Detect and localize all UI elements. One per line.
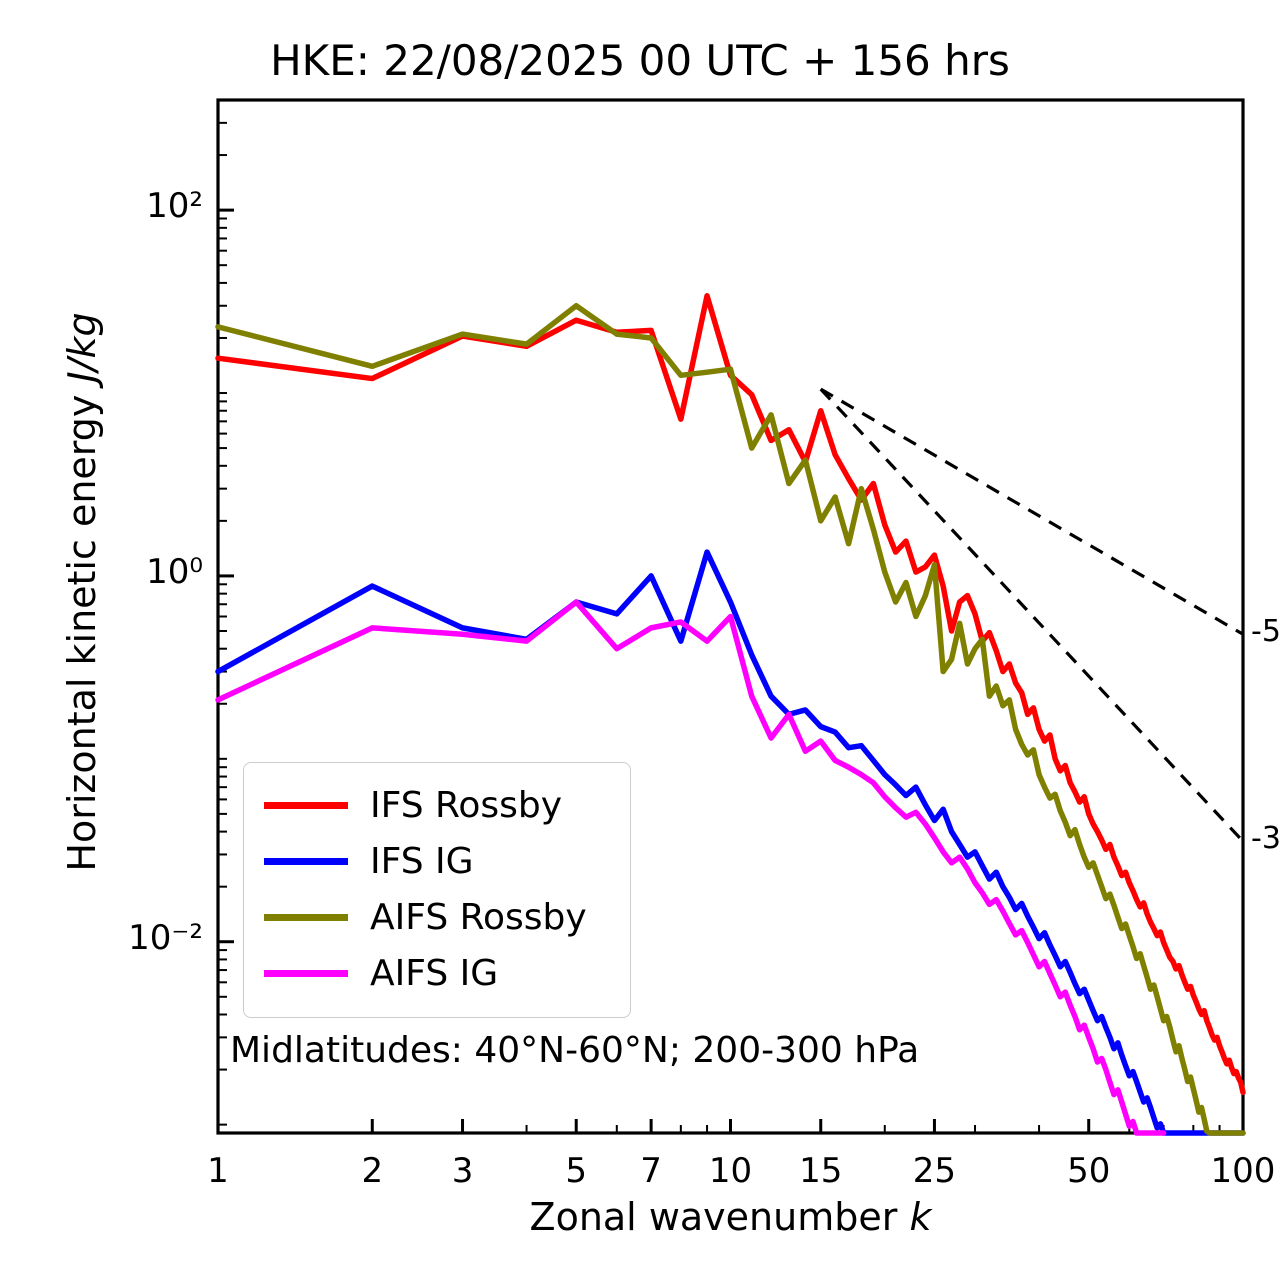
- slope-label-five-thirds: -5/3: [1251, 614, 1280, 649]
- y-tick-label: 10²: [18, 186, 203, 226]
- legend-swatch-aifs-ig: [264, 970, 348, 977]
- legend[interactable]: IFS Rossby IFS IG AIFS Rossby AIFS IG: [243, 762, 631, 1018]
- y-tick-label: 10⁻²: [18, 918, 203, 958]
- x-tick-label: 15: [761, 1151, 881, 1191]
- y-tick-label: 10⁰: [18, 552, 203, 592]
- legend-swatch-ifs-ig: [264, 858, 348, 865]
- slope-label-minus-three: -3: [1251, 821, 1280, 856]
- legend-label: IFS Rossby: [370, 785, 562, 826]
- legend-label: IFS IG: [370, 841, 474, 882]
- legend-label: AIFS IG: [370, 953, 498, 994]
- region-annotation: Midlatitudes: 40°N-60°N; 200-300 hPa: [230, 1030, 919, 1071]
- x-axis-label: Zonal wavenumber k: [218, 1195, 1243, 1239]
- legend-item[interactable]: AIFS IG: [260, 945, 614, 1001]
- x-tick-label: 50: [1029, 1151, 1149, 1191]
- x-tick-label: 1: [158, 1151, 278, 1191]
- legend-swatch-ifs-rossby: [264, 802, 348, 809]
- legend-item[interactable]: IFS Rossby: [260, 777, 614, 833]
- x-tick-label: 25: [874, 1151, 994, 1191]
- legend-label: AIFS Rossby: [370, 897, 587, 938]
- x-tick-label: 3: [403, 1151, 523, 1191]
- chart-figure: HKE: 22/08/2025 00 UTC + 156 hrs 1235710…: [0, 0, 1280, 1288]
- x-tick-label: 100: [1183, 1151, 1280, 1191]
- legend-item[interactable]: IFS IG: [260, 833, 614, 889]
- legend-item[interactable]: AIFS Rossby: [260, 889, 614, 945]
- y-axis-label: Horizontal kinetic energy J/kg: [60, 242, 104, 942]
- legend-swatch-aifs-rossby: [264, 914, 348, 921]
